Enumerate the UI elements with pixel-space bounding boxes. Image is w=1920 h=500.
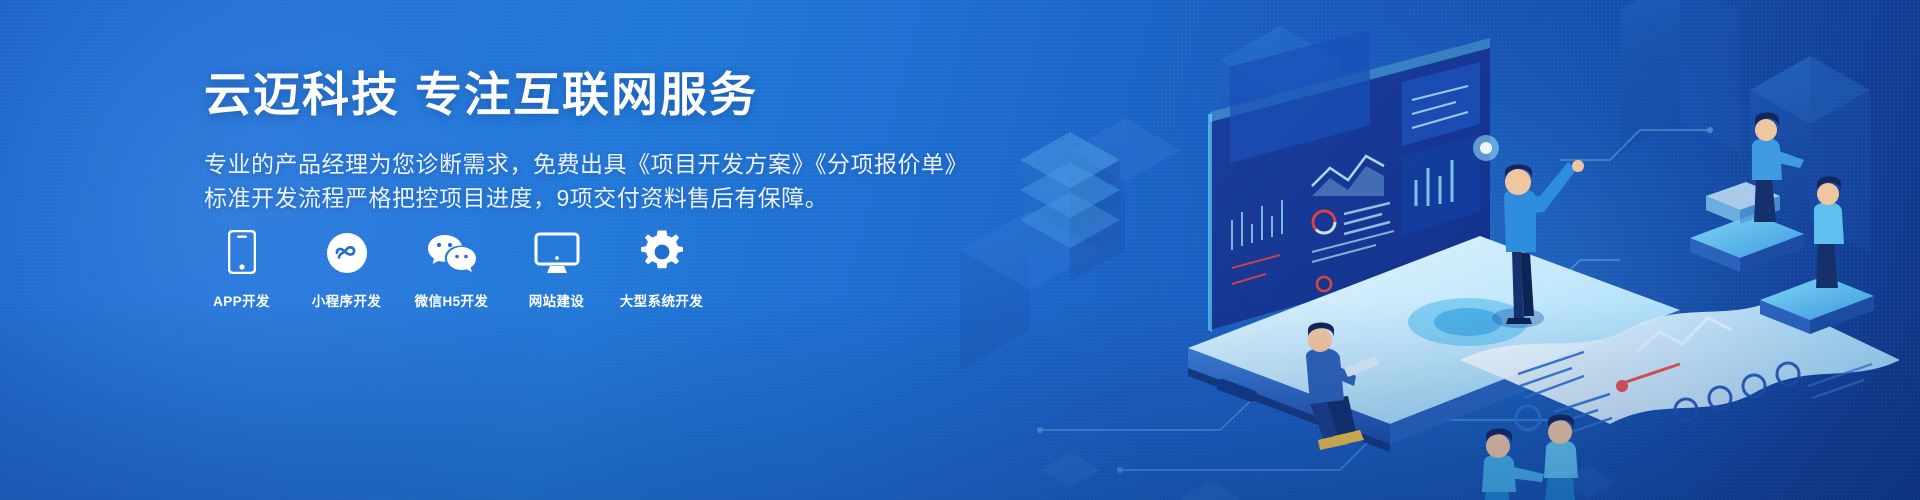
person-sitting — [1306, 323, 1379, 451]
gear-icon — [640, 228, 684, 274]
server-stack — [1020, 132, 1120, 266]
subtitle-line-1: 专业的产品经理为您诊断需求，免费出具《项目开发方案》《分项报价单》 — [204, 147, 964, 181]
background-buildings — [960, 0, 1870, 370]
service-label-wechat: 微信H5开发 — [415, 290, 489, 310]
dashboard-screen — [1208, 29, 1499, 332]
service-item-website[interactable]: 网站建设 — [519, 228, 594, 310]
service-label-miniprogram: 小程序开发 — [312, 290, 382, 310]
foreground-diamonds — [1040, 452, 1616, 500]
right-platforms — [1690, 113, 1874, 335]
service-item-system[interactable]: 大型系统开发 — [624, 228, 699, 310]
wechat-icon — [427, 228, 477, 274]
right-glow — [1100, 20, 1860, 500]
data-sheet — [1460, 300, 1900, 436]
headline-block: 云迈科技 专注互联网服务 专业的产品经理为您诊断需求，免费出具《项目开发方案》《… — [204, 66, 964, 215]
person-standing — [1492, 160, 1584, 328]
monitor-icon — [534, 228, 580, 274]
circuit-lines — [1037, 127, 1713, 473]
service-item-miniprogram[interactable]: 小程序开发 — [309, 228, 384, 310]
page-title: 云迈科技 专注互联网服务 — [204, 66, 964, 125]
person-right-upper — [1752, 113, 1804, 223]
service-item-app[interactable]: APP开发 — [204, 228, 279, 310]
subtitle-line-2: 标准开发流程严格把控项目进度，9项交付资料售后有保障。 — [204, 181, 964, 215]
service-label-app: APP开发 — [213, 290, 270, 310]
person-right-lower — [1814, 177, 1844, 289]
service-label-website: 网站建设 — [529, 290, 585, 310]
service-item-wechat[interactable]: 微信H5开发 — [414, 228, 489, 310]
service-label-system: 大型系统开发 — [620, 290, 703, 310]
service-icon-row: APP开发 小程序开发 微信 — [204, 228, 699, 310]
mini-program-icon — [326, 228, 368, 274]
person-pair — [1482, 415, 1578, 500]
promo-banner: 云迈科技 专注互联网服务 专业的产品经理为您诊断需求，免费出具《项目开发方案》《… — [0, 0, 1920, 500]
mobile-phone-icon — [228, 228, 256, 274]
isometric-illustration — [920, 0, 1920, 500]
phone-platform — [1188, 236, 1680, 452]
bottom-vignette — [0, 300, 1920, 500]
